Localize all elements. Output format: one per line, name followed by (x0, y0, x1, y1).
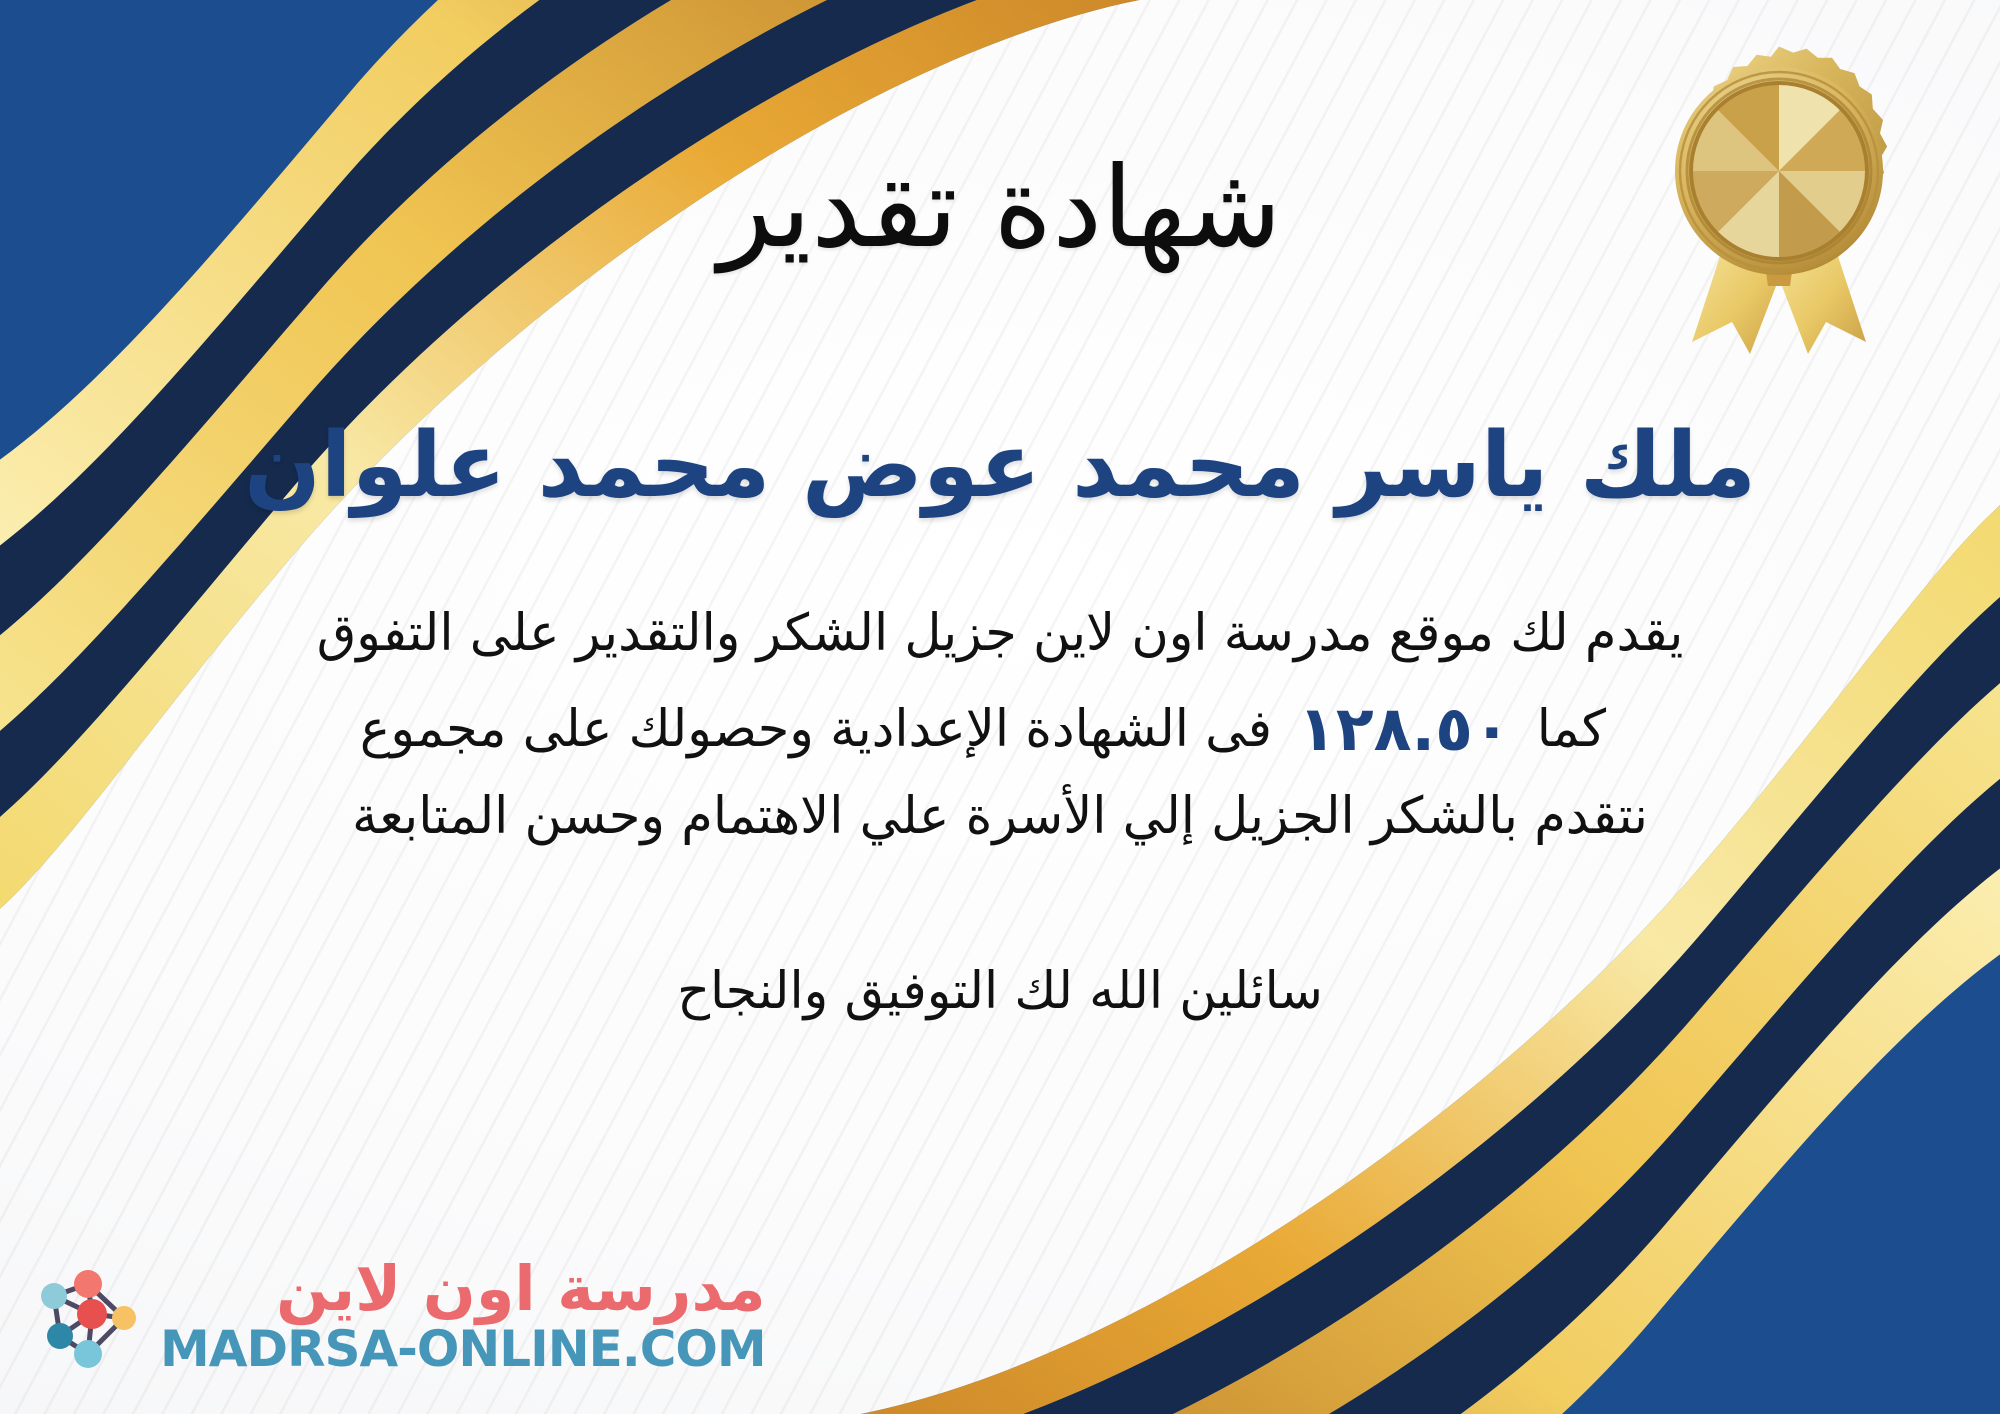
brand-website-url: MADRSA-ONLINE.COM (160, 1324, 766, 1374)
body-line-3: نتقدم بالشكر الجزيل إلي الأسرة علي الاهت… (190, 776, 1810, 859)
brand-arabic-name: مدرسة اون لاين (276, 1258, 766, 1320)
total-score-value: ١٢٨.٥٠ (1272, 679, 1537, 779)
network-graph-icon (26, 1256, 146, 1376)
body-line-1: يقدم لك موقع مدرسة اون لاين جزيل الشكر و… (190, 593, 1810, 676)
student-name: ملك ياسر محمد عوض محمد علوان (244, 416, 1756, 515)
certificate-body: يقدم لك موقع مدرسة اون لاين جزيل الشكر و… (190, 593, 1810, 859)
brand-logo-text: مدرسة اون لاين MADRSA-ONLINE.COM (160, 1258, 766, 1374)
brand-logo[interactable]: مدرسة اون لاين MADRSA-ONLINE.COM (26, 1256, 766, 1376)
certificate-canvas: شهادة تقدير ملك ياسر محمد عوض محمد علوان… (0, 0, 2000, 1414)
body-line-2: كما١٢٨.٥٠فى الشهادة الإعدادية وحصولك على… (190, 675, 1810, 775)
body-line-2-prefix: كما (1537, 689, 1640, 772)
certificate-content: شهادة تقدير ملك ياسر محمد عوض محمد علوان… (0, 0, 2000, 1414)
body-line-2-suffix: فى الشهادة الإعدادية وحصولك على مجموع (360, 700, 1272, 759)
page-title: شهادة تقدير (718, 150, 1281, 268)
closing-wish: سائلين الله لك التوفيق والنجاح (677, 954, 1323, 1031)
